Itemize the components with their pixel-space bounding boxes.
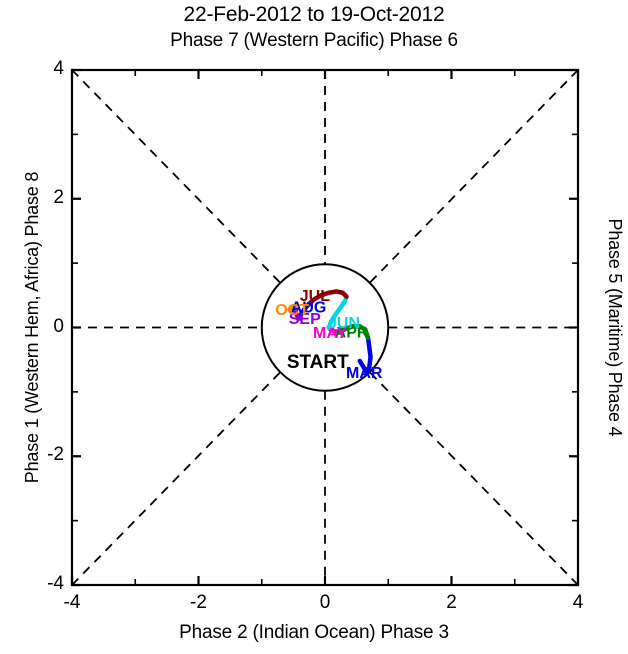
x-axis-label: Phase 2 (Indian Ocean) Phase 3: [0, 622, 628, 644]
month-label-jun: JUN: [328, 315, 360, 332]
y-tick-label: 2: [24, 187, 64, 209]
y-axis-label-right: Phase 5 (Maritime) Phase 4: [603, 70, 625, 585]
divider-diagonal-sw: [72, 372, 280, 585]
x-tick-label: 2: [432, 592, 472, 614]
x-tick-label: -2: [179, 592, 219, 614]
y-tick-label: -4: [24, 573, 64, 595]
phase-space-plot: MARAPRMAYJUNJULAUGSEPOCTSTART: [0, 0, 628, 654]
x-tick-label: 4: [558, 592, 598, 614]
y-tick-label: 0: [24, 316, 64, 338]
x-tick-label: -4: [52, 592, 92, 614]
divider-diagonal-se: [370, 372, 578, 585]
y-tick-label: 4: [24, 58, 64, 80]
divider-diagonal-ne: [370, 70, 578, 283]
x-tick-label: 0: [305, 592, 345, 614]
mjo-phase-diagram: 22-Feb-2012 to 19-Oct-2012 Phase 7 (West…: [0, 0, 628, 654]
divider-diagonal-nw: [72, 70, 280, 283]
month-label-oct: OCT: [275, 302, 309, 319]
y-tick-label: -2: [24, 444, 64, 466]
start-label: START: [287, 352, 349, 373]
month-label-mar: MAR: [346, 365, 383, 382]
